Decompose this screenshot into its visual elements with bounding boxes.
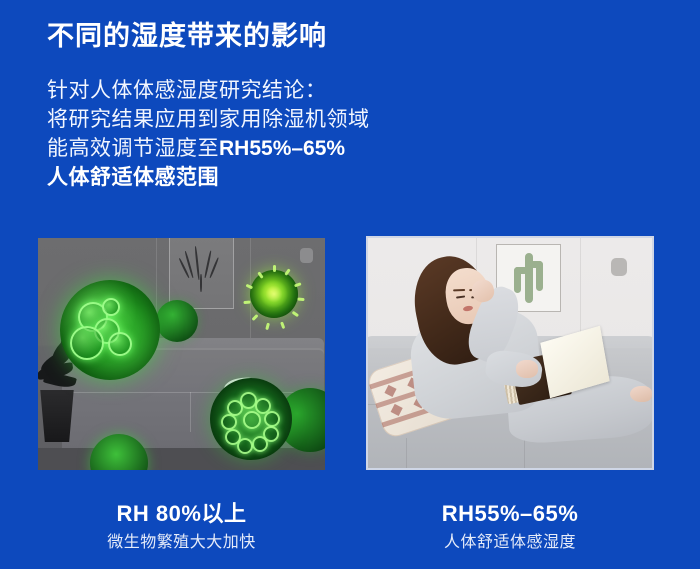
microbe-sphere-large [60, 280, 160, 380]
wall-art-frame [169, 238, 234, 309]
intro-line-4: 人体舒适体感范围 [47, 163, 607, 192]
room-background-light [368, 238, 652, 468]
wall-knob [611, 258, 627, 276]
intro-line-3-prefix: 能高效调节湿度至 [47, 137, 219, 160]
microbe-virus-hanging [250, 270, 298, 318]
caption-right: RH55%–65% 人体舒适体感湿度 [366, 500, 654, 555]
page-title: 不同的湿度带来的影响 [47, 19, 327, 53]
woman-foot [630, 386, 652, 402]
intro-line-3: 能高效调节湿度至RH55%–65% [47, 134, 607, 163]
intro-paragraph: 针对人体体感湿度研究结论： 将研究结果应用到家用除湿机领域 能高效调节湿度至RH… [47, 76, 607, 192]
microbe-sphere-small-mid [156, 300, 198, 342]
wall-knob [300, 248, 313, 263]
caption-left-main: RH 80%以上 [38, 500, 325, 528]
image-panel-humid-room [38, 238, 325, 470]
humidity-range-highlight: RH55%–65% [219, 137, 345, 160]
intro-line-2: 将研究结果应用到家用除湿机领域 [47, 105, 607, 134]
caption-left-sub: 微生物繁殖大大加快 [38, 531, 325, 555]
humidity-infographic-poster: 不同的湿度带来的影响 针对人体体感湿度研究结论： 将研究结果应用到家用除湿机领域… [0, 0, 700, 569]
image-panel-comfort-room [366, 236, 654, 470]
floor [38, 448, 325, 470]
intro-line-1: 针对人体体感湿度研究结论： [47, 76, 607, 105]
room-background-grey [38, 238, 325, 470]
caption-left: RH 80%以上 微生物繁殖大大加快 [38, 500, 325, 555]
woman-hand-holding-book [516, 360, 538, 378]
microbe-sphere-bottom [210, 378, 292, 460]
caption-right-sub: 人体舒适体感湿度 [366, 531, 654, 555]
caption-right-main: RH55%–65% [366, 500, 654, 528]
